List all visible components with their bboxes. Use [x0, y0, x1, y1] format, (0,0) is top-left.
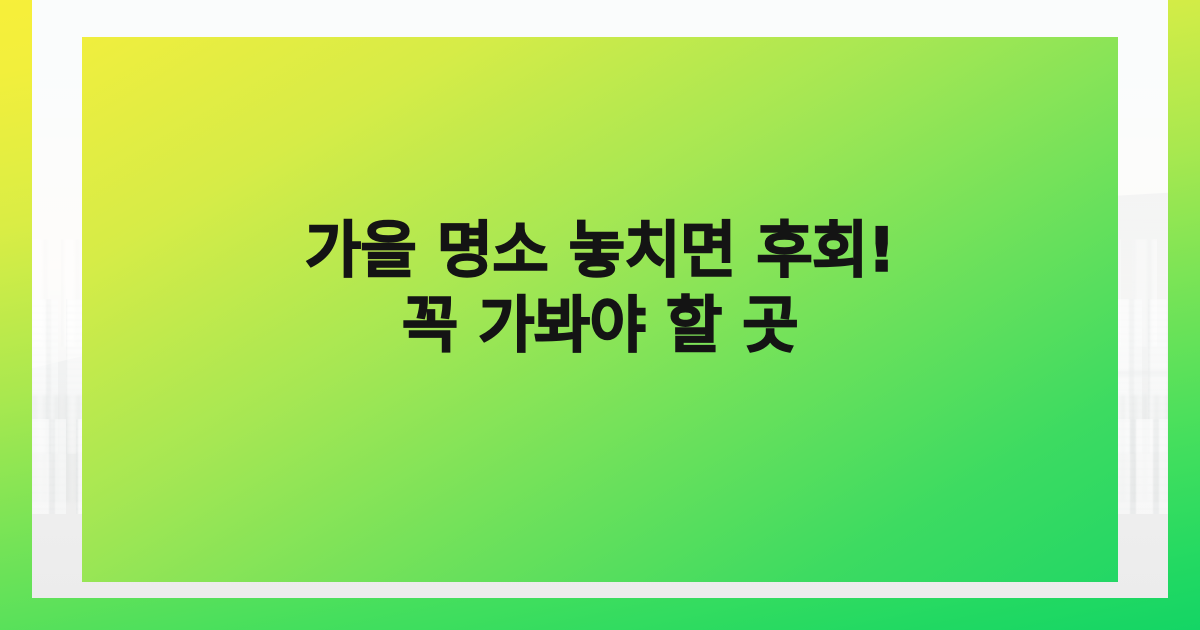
headline-container: 가을 명소 놓치면 후회! 꼭 가봐야 할 곳	[32, 0, 1168, 598]
content-panel: 가을 명소 놓치면 후회! 꼭 가봐야 할 곳	[32, 0, 1168, 598]
page-title: 가을 명소 놓치면 후회! 꼭 가봐야 할 곳	[280, 213, 920, 385]
thumbnail-card: 가을 명소 놓치면 후회! 꼭 가봐야 할 곳	[0, 0, 1200, 630]
